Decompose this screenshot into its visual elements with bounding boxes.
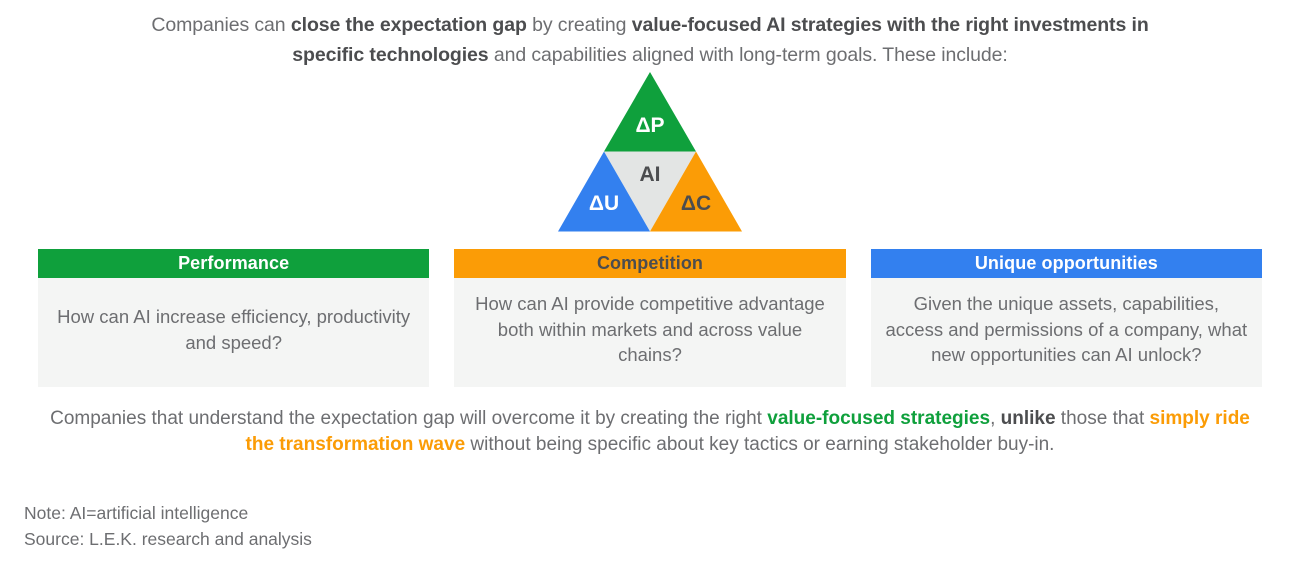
card-competition[interactable]: Competition How can AI provide competiti… bbox=[454, 249, 845, 387]
triangle-label-delta-c: ΔC bbox=[681, 192, 711, 215]
footnote-source: Source: L.E.K. research and analysis bbox=[24, 526, 312, 552]
summary-segment-5: those that bbox=[1056, 408, 1150, 429]
triangle-label-delta-u: ΔU bbox=[589, 192, 619, 215]
pillar-cards: Performance How can AI increase efficien… bbox=[38, 249, 1262, 387]
intro-segment-1: Companies can bbox=[151, 14, 291, 36]
intro-paragraph: Companies can close the expectation gap … bbox=[140, 10, 1160, 70]
summary-segment-7: without being specific about key tactics… bbox=[465, 434, 1054, 455]
summary-segment-2-green: value-focused strategies bbox=[767, 408, 990, 429]
intro-segment-5: and capabilities aligned with long-term … bbox=[489, 44, 1008, 66]
triangle-label-ai: AI bbox=[640, 163, 661, 186]
card-unique-opportunities-title: Unique opportunities bbox=[871, 249, 1262, 278]
card-unique-opportunities[interactable]: Unique opportunities Given the unique as… bbox=[871, 249, 1262, 387]
intro-segment-3: by creating bbox=[527, 14, 632, 36]
triangle-label-delta-p: ΔP bbox=[635, 114, 664, 137]
card-performance[interactable]: Performance How can AI increase efficien… bbox=[38, 249, 429, 387]
summary-segment-1: Companies that understand the expectatio… bbox=[50, 408, 767, 429]
summary-segment-4-dark: unlike bbox=[1001, 408, 1056, 429]
card-performance-title: Performance bbox=[38, 249, 429, 278]
card-competition-body: How can AI provide competitive advantage… bbox=[454, 278, 845, 387]
intro-segment-2-bold: close the expectation gap bbox=[291, 14, 527, 36]
card-competition-title: Competition bbox=[454, 249, 845, 278]
summary-paragraph: Companies that understand the expectatio… bbox=[36, 406, 1264, 458]
footnote-note: Note: AI=artificial intelligence bbox=[24, 500, 312, 526]
ai-value-triangle: ΔP AI ΔU ΔC bbox=[558, 70, 742, 234]
footnotes: Note: AI=artificial intelligence Source:… bbox=[24, 500, 312, 552]
card-unique-opportunities-body: Given the unique assets, capabilities, a… bbox=[871, 278, 1262, 387]
summary-segment-3: , bbox=[990, 408, 1001, 429]
triangle-segment-top-performance bbox=[604, 72, 696, 152]
card-performance-body: How can AI increase efficiency, producti… bbox=[38, 278, 429, 387]
